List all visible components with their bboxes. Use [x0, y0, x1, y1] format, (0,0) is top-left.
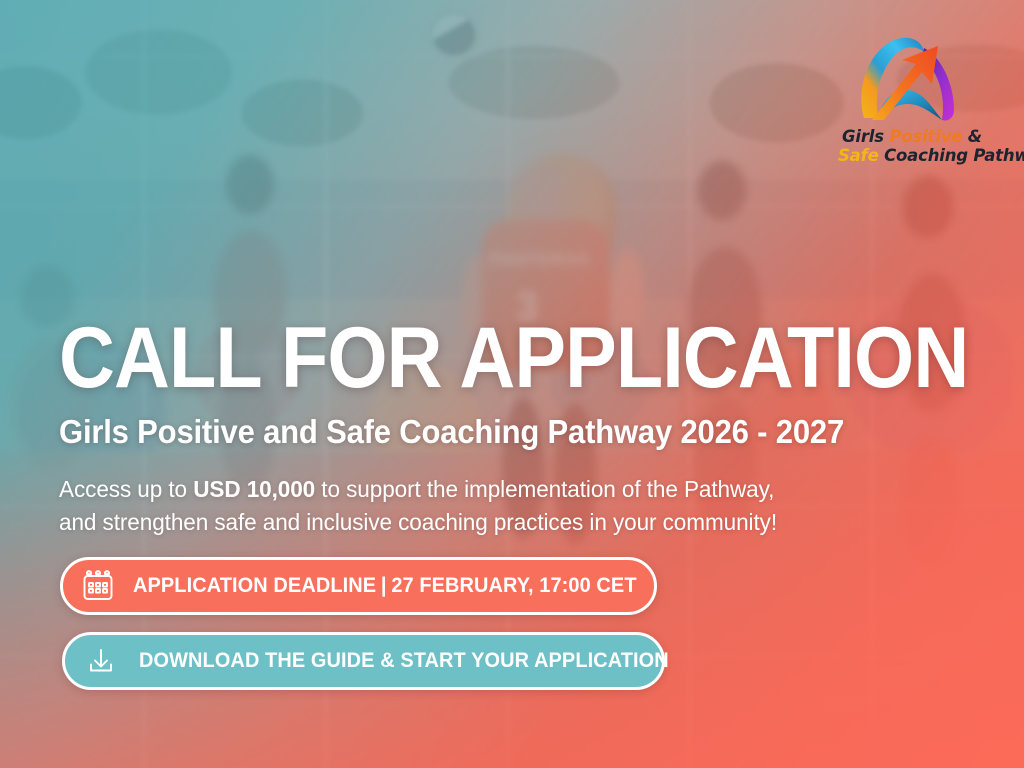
deadline-separator: | — [376, 574, 391, 597]
calendar-icon — [81, 569, 115, 603]
brand-word-coaching-pathway: Coaching Pathway — [879, 146, 1024, 165]
brand-logo: Girls Positive & Safe Coaching Pathway — [838, 26, 986, 166]
body-copy-amount: USD 10,000 — [193, 476, 315, 502]
brand-word-positive: Positive — [889, 127, 962, 146]
deadline-date: 27 FEBRUARY, 17:00 CET — [391, 574, 636, 597]
brand-logo-line-1: Girls Positive & — [838, 128, 986, 147]
page-subtitle: Girls Positive and Safe Coaching Pathway… — [59, 415, 844, 450]
arrow-swoosh-logo-mark-icon — [850, 26, 974, 124]
brand-word-girls: Girls — [842, 127, 889, 146]
download-icon — [85, 645, 117, 677]
poster-canvas: PANTERAS 3 — [0, 0, 1024, 768]
download-guide-button[interactable]: DOWNLOAD THE GUIDE & START YOUR APPLICAT… — [62, 632, 665, 690]
brand-word-safe: Safe — [838, 146, 879, 165]
deadline-label: APPLICATION DEADLINE|27 FEBRUARY, 17:00 … — [133, 574, 637, 598]
brand-logo-text: Girls Positive & Safe Coaching Pathway — [838, 128, 986, 166]
brand-word-amp: & — [962, 127, 982, 146]
download-button-label: DOWNLOAD THE GUIDE & START YOUR APPLICAT… — [139, 649, 669, 673]
brand-logo-line-2: Safe Coaching Pathway — [838, 147, 986, 166]
body-copy-before: Access up to — [59, 476, 193, 502]
poster-content: Girls Positive & Safe Coaching Pathway C… — [0, 0, 1024, 768]
deadline-label-main: APPLICATION DEADLINE — [133, 574, 376, 597]
application-deadline-badge[interactable]: APPLICATION DEADLINE|27 FEBRUARY, 17:00 … — [60, 557, 657, 615]
body-copy: Access up to USD 10,000 to support the i… — [59, 473, 817, 539]
page-title: CALL FOR APPLICATION — [59, 322, 968, 396]
